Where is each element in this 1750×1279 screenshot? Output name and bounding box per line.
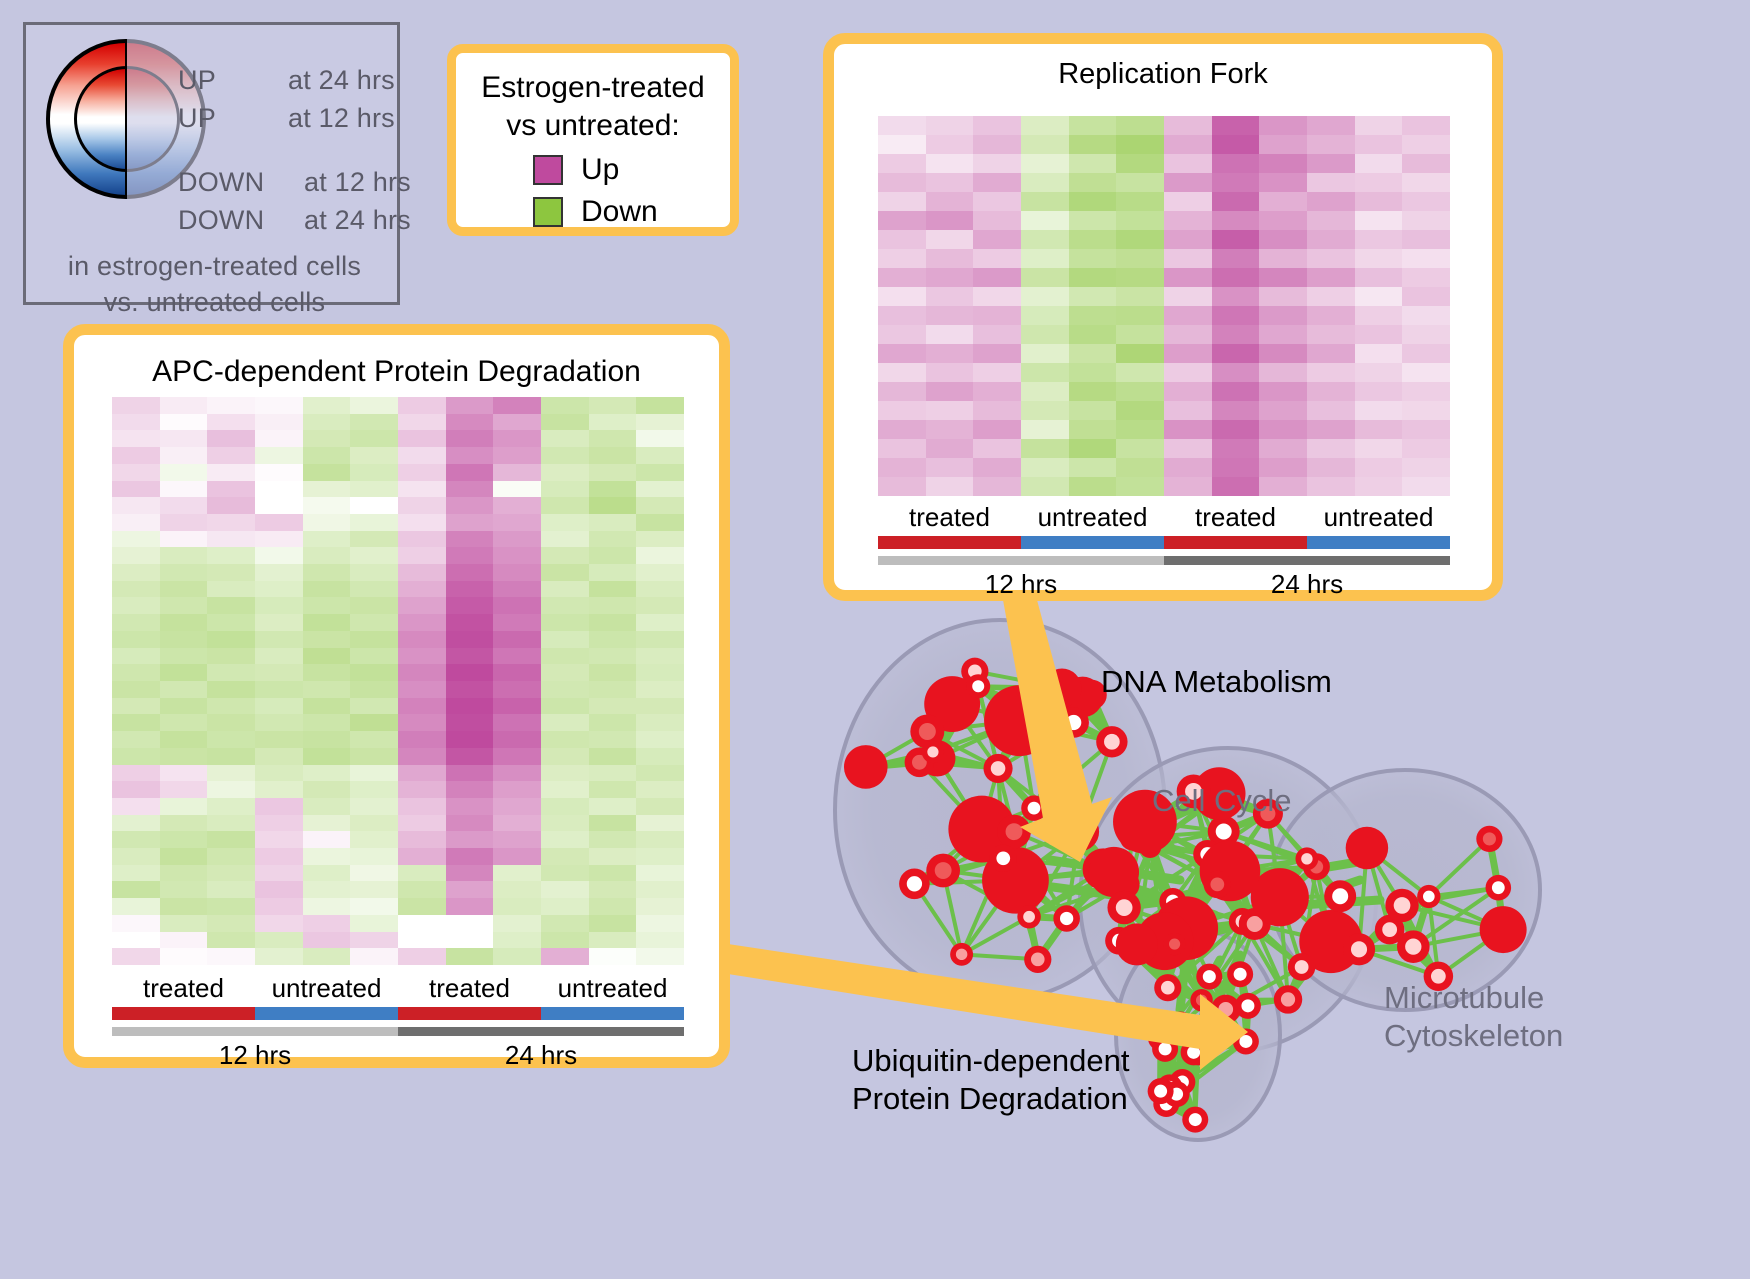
network-edge [1215,955,1240,1005]
heatmap-cell [1355,325,1403,344]
heatmap-cell [255,881,303,898]
network-node[interactable] [1288,953,1316,981]
heatmap-cell [636,430,684,447]
network-edge [1034,808,1103,869]
heatmap-cell [493,714,541,731]
network-node[interactable] [1239,908,1271,940]
heatmap-cell [1307,192,1355,211]
network-edge [866,758,937,767]
network-node[interactable] [1154,896,1218,960]
network-node[interactable] [1105,927,1133,955]
network-edge [1331,896,1340,941]
heatmap-cell [1021,173,1069,192]
network-node[interactable] [1295,847,1318,870]
heatmap-cell [446,748,494,765]
network-edge [1137,847,1150,945]
heatmap-cell [350,932,398,949]
network-edge [1166,1082,1182,1104]
heatmap-cell [350,681,398,698]
network-edge [975,671,998,768]
network-node[interactable] [926,854,960,888]
network-node[interactable] [984,685,1055,756]
heatmap-cell [926,363,974,382]
heatmap-cell [1164,401,1212,420]
heatmap-cell [1307,458,1355,477]
network-edge [1177,1024,1181,1094]
heatmap-cell [493,547,541,564]
heatmap-cell [303,547,351,564]
network-node[interactable] [1154,974,1181,1001]
heatmap-cell [1402,249,1450,268]
heatmap-cell [878,458,926,477]
network-edge [1242,921,1301,967]
network-node[interactable] [1152,1036,1178,1062]
network-edge [1198,977,1209,1053]
network-node[interactable] [948,796,1015,863]
network-node[interactable] [1116,923,1158,965]
network-edge [1182,1052,1198,1082]
network-edge [1074,723,1112,742]
network-node[interactable] [1136,912,1194,970]
heatmap-cell [398,698,446,715]
network-edge [927,731,933,752]
heatmap-cell [1164,382,1212,401]
network-edge [1161,1038,1246,1041]
heatmap-cell [589,614,637,631]
heatmap-cell [1259,249,1307,268]
network-edge [1079,832,1103,870]
heatmap-cell [1402,477,1450,496]
network-node[interactable] [1168,1011,1194,1037]
heatmap-cell [1116,249,1164,268]
network-node[interactable] [1148,1025,1174,1051]
heatmap-cell [589,731,637,748]
network-node[interactable] [919,740,956,777]
heatmap-cell [398,430,446,447]
heatmap-cell [446,948,494,965]
heatmap-cell [398,681,446,698]
heatmap-cell [207,781,255,798]
heatmap-cell [973,192,1021,211]
heatmap-cell [1212,173,1260,192]
heatmap-cell [1212,154,1260,173]
heatmap-cell [446,481,494,498]
network-node[interactable] [997,815,1031,849]
heatmap-cell [255,748,303,765]
heatmap-cell [207,430,255,447]
heatmap-cell [541,631,589,648]
sample-label-treated-24: treated [1164,502,1307,533]
network-node[interactable] [1274,985,1302,1013]
network-edge [998,721,1020,769]
heatmap-cell [207,915,255,932]
network-edge [1114,872,1125,884]
network-edge [1186,854,1207,928]
figure-canvas: UP at 24 hrs UP at 12 hrs DOWN at 12 hrs… [0,0,1750,1279]
network-edge [1014,832,1029,917]
network-node[interactable] [1159,888,1186,915]
heatmap-cell [160,597,208,614]
heatmap-cell [303,648,351,665]
heatmap-cell [160,430,208,447]
heatmap-cell [973,173,1021,192]
heatmap-cell [493,664,541,681]
network-node[interactable] [1151,1080,1177,1106]
network-node[interactable] [1385,889,1418,922]
heatmap-cell [1069,173,1117,192]
heatmap-cell [636,414,684,431]
network-node[interactable] [1169,1069,1195,1095]
heatmap-cell [1307,173,1355,192]
network-edge [1067,872,1114,918]
heatmap-cell [1355,116,1403,135]
heatmap-cell [1212,420,1260,439]
network-edge [1161,1038,1170,1087]
heatmap-cell [1021,287,1069,306]
network-edge [1207,854,1279,897]
network-node[interactable] [1233,1028,1259,1054]
network-node[interactable] [1211,995,1240,1024]
heatmap-cell [1164,154,1212,173]
network-edge [933,671,975,752]
network-edge [933,752,937,758]
heatmap-cell [1069,135,1117,154]
network-edge [927,704,952,731]
network-node[interactable] [1110,870,1140,900]
network-node[interactable] [910,714,944,748]
network-node[interactable] [1190,989,1212,1011]
network-node[interactable] [1486,875,1512,901]
network-node[interactable] [1148,1078,1174,1104]
network-edge [1246,1006,1248,1042]
network-node[interactable] [1193,840,1222,869]
heatmap-cell [1259,401,1307,420]
network-edge [1014,832,1103,870]
network-edge [1217,814,1268,885]
network-node[interactable] [1397,930,1430,963]
heatmap-cell [1116,268,1164,287]
network-node[interactable] [1153,1091,1179,1117]
heatmap-cell [446,898,494,915]
network-edge [1186,928,1201,1000]
network-edge [943,871,961,955]
heatmap-cell [589,464,637,481]
network-node[interactable] [961,658,988,685]
network-edge [1268,814,1307,859]
network-edge [1164,1082,1182,1093]
network-edge [933,704,952,752]
heatmap-cell [350,915,398,932]
network-node[interactable] [950,943,973,966]
timebar-24hrs [398,1027,684,1036]
heatmap-cell [636,731,684,748]
network-edge [1161,1038,1198,1052]
heatmap-cell [636,932,684,949]
heatmap-cell [1069,306,1117,325]
heatmap-cell [398,497,446,514]
heatmap-cell [112,815,160,832]
network-node[interactable] [1042,669,1081,708]
heatmap-cell [350,765,398,782]
network-edge [1003,858,1029,916]
heatmap-cell [878,192,926,211]
network-edge [952,704,998,768]
heatmap-cell [1402,287,1450,306]
heatmap-cell [878,287,926,306]
heatmap-cell [446,881,494,898]
heatmap-cell [1259,325,1307,344]
heatmap-cell [1021,439,1069,458]
heatmap-cell [446,514,494,531]
heatmap-cell [1116,116,1164,135]
network-edge [1161,1052,1199,1091]
network-node[interactable] [1120,826,1145,851]
network-node[interactable] [1157,1074,1183,1100]
heatmap-cell [160,464,208,481]
heatmap-cell [350,581,398,598]
network-node[interactable] [1107,891,1140,924]
heatmap-cell [1069,439,1117,458]
network-node[interactable] [1058,707,1088,737]
network-edge [1367,848,1429,897]
heatmap-cell [446,430,494,447]
network-edge [1165,1049,1195,1120]
network-node[interactable] [1053,905,1080,932]
heatmap-cell [1069,325,1117,344]
heatmap-cell [636,564,684,581]
heatmap-cell [160,564,208,581]
heatmap-cell [1259,173,1307,192]
heatmap-cell [1307,344,1355,363]
heatmap-cell [589,631,637,648]
network-node[interactable] [1163,933,1185,955]
heatmap-cell [350,781,398,798]
wheel-key-up-24-time: at 24 hrs [288,65,395,96]
network-node[interactable] [1303,853,1330,880]
network-node[interactable] [1251,868,1309,926]
heatmap-apc-dependent-protein-degradation [112,397,684,965]
heatmap-cell [350,898,398,915]
network-edge [1165,1049,1182,1082]
network-edge [1161,1038,1177,1094]
network-node[interactable] [924,676,980,732]
heatmap-cell [1307,135,1355,154]
heatmap-cell [160,898,208,915]
network-edge [1182,1082,1195,1120]
network-edge [1029,869,1103,917]
network-node[interactable] [922,741,944,763]
heatmap-cell [398,414,446,431]
heatmap-cell [112,898,160,915]
network-edge [1173,901,1186,928]
heatmap-cell [1212,249,1260,268]
network-edge [1092,695,1112,742]
heatmap-cell [207,681,255,698]
network-node[interactable] [990,845,1017,872]
network-node[interactable] [1089,847,1139,897]
network-node[interactable] [1096,726,1127,757]
heatmap-cell [446,414,494,431]
legend-item-down: Down [533,195,658,229]
heatmap-cell [160,481,208,498]
network-edge [1110,880,1215,915]
heatmap-cell [1355,268,1403,287]
heatmap-cell [350,414,398,431]
heatmap-cell [636,514,684,531]
network-node[interactable] [1017,905,1040,928]
network-edge [1137,928,1186,944]
heatmap-cell [1069,249,1117,268]
network-node[interactable] [1060,812,1099,851]
cluster-label-dna-metabolism: DNA Metabolism [1101,664,1332,700]
heatmap-cell [973,135,1021,154]
network-node[interactable] [1229,908,1256,935]
heatmap-cell [541,714,589,731]
network-edge [982,829,1016,880]
heatmap-cell [398,564,446,581]
heatmap-cell [1307,211,1355,230]
network-node[interactable] [1417,885,1440,908]
network-edge [1302,896,1341,967]
network-node[interactable] [1208,815,1240,847]
network-node[interactable] [1182,1107,1208,1133]
network-node[interactable] [1139,835,1162,858]
network-node[interactable] [1480,906,1527,953]
heatmap-cell [636,748,684,765]
heatmap-cell [255,414,303,431]
heatmap-cell [878,211,926,230]
network-edge [919,686,978,762]
network-node[interactable] [1185,1039,1211,1065]
heatmap-cell [1307,420,1355,439]
network-edge [943,858,1003,870]
network-node[interactable] [844,745,888,789]
heatmap-cell [493,447,541,464]
heatmap-cell [255,547,303,564]
network-edge [1209,977,1248,1006]
network-edge [1020,695,1092,721]
heatmap-cell [1355,173,1403,192]
network-edge [1182,1041,1246,1082]
network-edge [927,671,975,731]
network-edge [1242,921,1288,999]
network-edge [998,768,1014,831]
network-node[interactable] [1299,910,1362,973]
network-node[interactable] [1227,961,1253,987]
heatmap-cell [112,414,160,431]
network-edge [1165,1041,1246,1048]
heatmap-cell [446,648,494,665]
heatmap-cell [160,531,208,548]
heatmap-cell [1116,477,1164,496]
network-node[interactable] [982,847,1049,914]
heatmap-cell [636,481,684,498]
network-node[interactable] [1324,880,1356,912]
heatmap-cell [926,211,974,230]
network-edge [975,671,978,686]
heatmap-cell [207,514,255,531]
heatmap-cell [878,135,926,154]
heatmap-cell [541,547,589,564]
heatmap-cell [541,765,589,782]
network-node[interactable] [1476,826,1502,852]
network-node[interactable] [1235,993,1261,1019]
heatmap-cell [112,514,160,531]
network-edge [978,686,1062,688]
network-node[interactable] [1164,1081,1190,1107]
network-node[interactable] [1375,915,1405,945]
heatmap-cell [398,881,446,898]
heatmap-cell [636,614,684,631]
heatmap-cell [160,631,208,648]
network-node[interactable] [899,868,930,899]
network-edge [1175,884,1218,944]
network-node[interactable] [1062,677,1103,718]
heatmap-cell [636,447,684,464]
heatmap-cell [1212,477,1260,496]
network-edge [1161,1087,1170,1091]
heatmap-cell [207,731,255,748]
heatmap-cell [1355,401,1403,420]
heatmap-cell [446,798,494,815]
heatmap-cell [1402,116,1450,135]
network-edge [1015,880,1037,959]
heatmap-cell [398,798,446,815]
network-edge [1429,888,1498,897]
heatmap-cell [1021,192,1069,211]
network-edge [1083,697,1112,742]
network-node[interactable] [1083,848,1125,890]
heatmap-cell [636,865,684,882]
network-node[interactable] [905,747,935,777]
network-node[interactable] [1021,795,1047,821]
network-node[interactable] [1024,946,1051,973]
heatmap-cell [350,531,398,548]
network-edge [1150,847,1165,941]
network-edge [1103,869,1124,884]
network-edge [1165,871,1230,941]
heatmap-cell [1021,458,1069,477]
heatmap-cell [878,230,926,249]
heatmap-cell [1164,268,1212,287]
heatmap-cell [160,447,208,464]
network-node[interactable] [1200,841,1261,902]
network-edge [1207,854,1217,884]
network-node[interactable] [966,674,990,698]
network-edge [1209,977,1246,1042]
heatmap-cell [1164,344,1212,363]
network-node[interactable] [1181,1039,1207,1065]
network-node[interactable] [983,754,1012,783]
network-edge [1280,896,1340,897]
cluster-label-cytoskeleton: Cytoskeleton [1384,1018,1563,1054]
heatmap-cell [636,831,684,848]
network-edge [1020,721,1074,723]
network-edge [1224,831,1280,897]
network-node[interactable] [1346,827,1388,869]
network-node[interactable] [1204,871,1232,899]
network-node[interactable] [1196,964,1222,990]
bar-untreated-24 [1307,536,1450,549]
network-node[interactable] [1343,933,1375,965]
heatmap-cell [303,698,351,715]
network-edge [1173,854,1208,901]
heatmap-cell [350,614,398,631]
network-edge [1164,1049,1165,1093]
heatmap-cell [1307,268,1355,287]
cluster-label-protein-degradation: Protein Degradation [852,1081,1128,1117]
network-edge [1280,897,1331,941]
